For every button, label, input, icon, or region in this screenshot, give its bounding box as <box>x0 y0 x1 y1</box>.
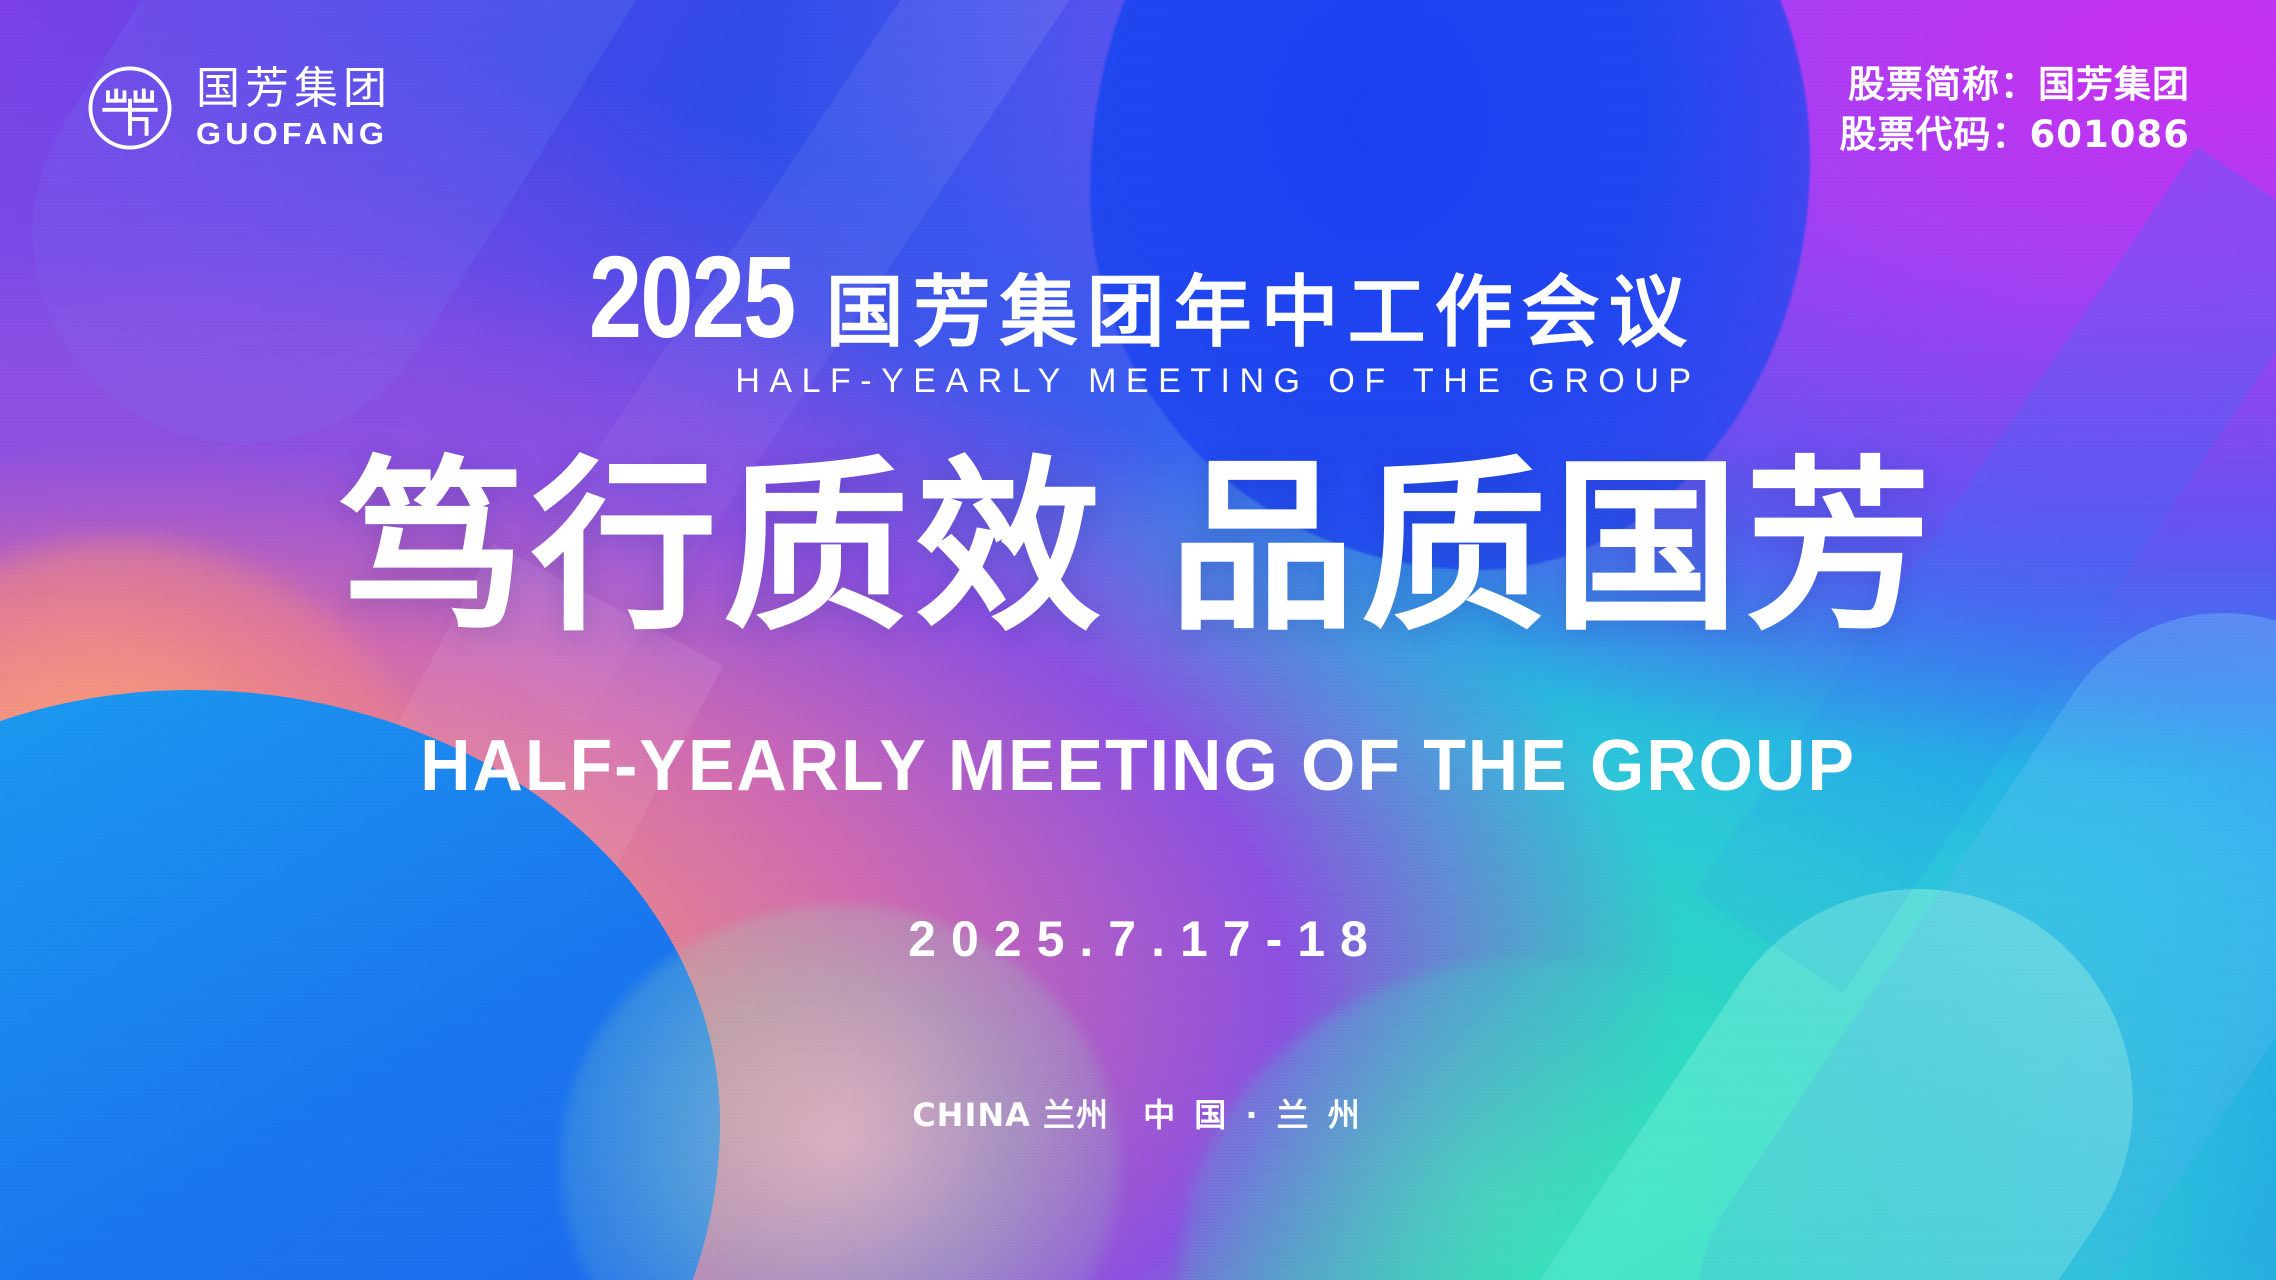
event-location-cn: 中 国 · 兰 州 <box>1143 1096 1364 1134</box>
event-location: CHINA 兰州中 国 · 兰 州 <box>0 1090 2276 1136</box>
event-date: 2025.7.17-18 <box>0 910 2276 968</box>
headline: 笃行质效品质国芳 <box>0 455 2276 641</box>
headline-subtitle-en: HALF-YEARLY MEETING OF THE GROUP <box>34 730 2242 802</box>
stock-abbreviation: 股票简称：国芳集团 <box>1840 60 2190 110</box>
guofang-circular-emblem-icon <box>84 62 176 154</box>
event-location-en: CHINA 兰州 <box>912 1096 1109 1134</box>
meeting-title-cn: 国芳集团年中工作会议 <box>826 274 1696 352</box>
brand-lockup: 国芳集团 GUOFANG <box>84 62 392 154</box>
meeting-year: 2025 <box>589 240 794 356</box>
headline-part-2: 品质国芳 <box>1169 439 1937 656</box>
conference-poster: 国芳集团 GUOFANG 股票简称：国芳集团 股票代码：601086 2025 … <box>0 0 2276 1280</box>
stock-code: 股票代码：601086 <box>1840 110 2190 160</box>
brand-name-cn: 国芳集团 <box>196 67 392 111</box>
meeting-title-block: 2025 国芳集团年中工作会议 HALF-YEARLY MEETING OF T… <box>0 252 2276 401</box>
stock-info: 股票简称：国芳集团 股票代码：601086 <box>1840 60 2190 161</box>
meeting-title-en: HALF-YEARLY MEETING OF THE GROUP <box>0 362 2276 401</box>
headline-part-1: 笃行质效 <box>339 439 1107 656</box>
brand-name-en: GUOFANG <box>196 118 400 149</box>
